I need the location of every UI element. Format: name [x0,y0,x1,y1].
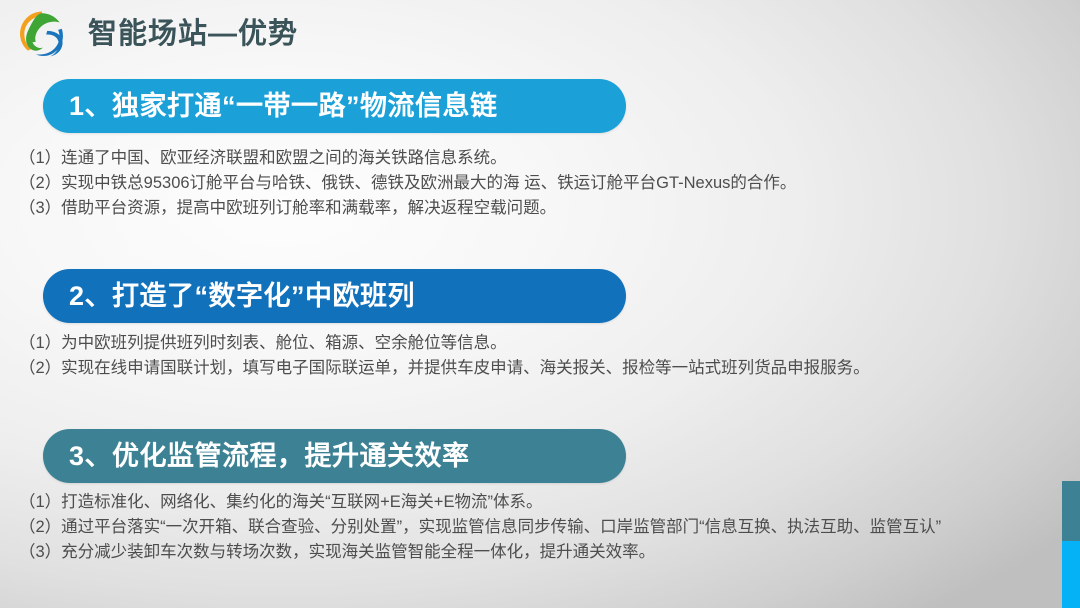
slide-canvas: 智能场站—优势 1、独家打通“一带一路”物流信息链 （1）连通了中国、欧亚经济联… [0,0,1080,608]
section-banner-3[interactable]: 3、优化监管流程，提升通关效率 [43,429,626,483]
accent-bar-bottom-segment [1062,541,1080,608]
right-accent-bar [1062,481,1080,608]
section-banner-label-2: 2、打造了“数字化”中欧班列 [69,280,415,312]
accent-bar-top-segment [1062,481,1080,541]
body-line: （2）实现中铁总95306订舱平台与哈铁、俄铁、德铁及欧洲最大的海 运、铁运订舱… [19,171,1065,196]
section-body-2: （1）为中欧班列提供班列时刻表、舱位、箱源、空余舱位等信息。 （2）实现在线申请… [19,331,1065,381]
body-line: （3）充分减少装卸车次数与转场次数，实现海关监管智能全程一体化，提升通关效率。 [19,540,1065,565]
section-banner-2[interactable]: 2、打造了“数字化”中欧班列 [43,269,626,323]
section-body-1: （1）连通了中国、欧亚经济联盟和欧盟之间的海关铁路信息系统。 （2）实现中铁总9… [19,146,1065,221]
section-banner-1[interactable]: 1、独家打通“一带一路”物流信息链 [43,79,626,133]
body-line: （1）连通了中国、欧亚经济联盟和欧盟之间的海关铁路信息系统。 [19,146,1065,171]
swirl-circle-logo-icon [14,8,70,60]
section-banner-label-3: 3、优化监管流程，提升通关效率 [69,440,470,472]
body-line: （1）为中欧班列提供班列时刻表、舱位、箱源、空余舱位等信息。 [19,331,1065,356]
body-line: （3）借助平台资源，提高中欧班列订舱率和满载率，解决返程空载问题。 [19,196,1065,221]
body-line: （1）打造标准化、网络化、集约化的海关“互联网+E海关+E物流”体系。 [19,490,1065,515]
section-body-3: （1）打造标准化、网络化、集约化的海关“互联网+E海关+E物流”体系。 （2）通… [19,490,1065,565]
body-line: （2）实现在线申请国联计划，填写电子国际联运单，并提供车皮申请、海关报关、报检等… [19,356,1065,381]
section-banner-label-1: 1、独家打通“一带一路”物流信息链 [69,90,498,122]
body-line: （2）通过平台落实“一次开箱、联合查验、分别处置”，实现监管信息同步传输、口岸监… [19,515,1065,540]
page-title: 智能场站—优势 [88,14,298,54]
slide-header: 智能场站—优势 [0,0,1080,68]
